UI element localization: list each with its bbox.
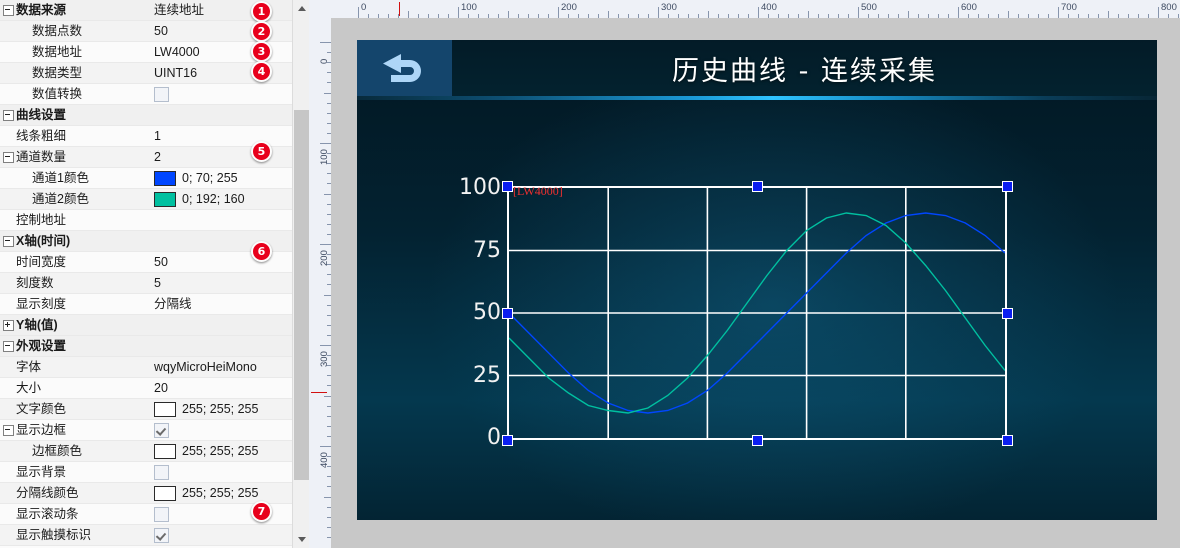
property-label: X轴(时间) <box>16 231 152 251</box>
ruler-tick <box>320 446 331 447</box>
value-text: wqyMicroHeiMono <box>154 357 257 377</box>
ruler-minor-tick <box>1008 11 1009 18</box>
trend-chart-plot[interactable] <box>507 186 1007 440</box>
property-panel-scrollbar[interactable] <box>292 0 310 548</box>
resize-handle[interactable] <box>1002 308 1013 319</box>
property-row[interactable]: 时间宽度50 <box>0 252 292 273</box>
property-label: 数据地址 <box>16 42 152 62</box>
ruler-tick <box>958 7 959 18</box>
color-value-text: 255; 255; 255 <box>182 399 258 419</box>
value-text: 连续地址 <box>154 0 204 20</box>
property-value[interactable]: 分隔线 <box>152 294 292 314</box>
property-label: 大小 <box>16 378 152 398</box>
property-row[interactable]: 显示触摸标识 <box>0 525 292 546</box>
property-value[interactable]: 255; 255; 255 <box>152 399 292 419</box>
y-axis-tick-label: 25 <box>473 365 501 387</box>
collapse-icon[interactable] <box>3 5 14 16</box>
ruler-minor-tick <box>324 497 331 498</box>
ruler-minor-tick <box>324 93 331 94</box>
property-expander[interactable] <box>0 315 16 335</box>
canvas-workspace[interactable]: 历史曲线 - 连续采集 [LW4000] 0255075100 <box>331 18 1180 548</box>
property-row[interactable]: 曲线设置 <box>0 105 292 126</box>
callout-badge: 1 <box>251 1 272 22</box>
ruler-minor-tick <box>408 11 409 18</box>
ruler-label: 100 <box>461 3 477 13</box>
hmi-header-bar: 历史曲线 - 连续采集 <box>357 40 1157 96</box>
ruler-minor-tick <box>324 194 331 195</box>
y-axis-tick-label: 100 <box>459 177 501 199</box>
property-row[interactable]: Y轴(值) <box>0 315 292 336</box>
property-value[interactable] <box>152 465 292 480</box>
callout-badge: 5 <box>251 141 272 162</box>
ruler-tick <box>1158 7 1159 18</box>
ruler-tick <box>320 345 331 346</box>
ruler-minor-tick <box>508 11 509 18</box>
property-label: 显示滚动条 <box>16 504 152 524</box>
ruler-tick <box>458 7 459 18</box>
scroll-up-button[interactable] <box>293 0 310 17</box>
ruler-tick <box>658 7 659 18</box>
value-text: 2 <box>154 147 161 167</box>
ruler-tick <box>1058 7 1059 18</box>
resize-handle[interactable] <box>752 181 763 192</box>
ruler-label: 0 <box>361 3 366 13</box>
y-axis-tick-label: 75 <box>473 240 501 262</box>
property-value[interactable] <box>152 528 292 543</box>
property-row[interactable]: 显示滚动条 <box>0 504 292 525</box>
chevron-down-icon <box>298 537 306 542</box>
property-label: 数据类型 <box>16 63 152 83</box>
value-text: 1 <box>154 126 161 146</box>
collapse-icon[interactable] <box>3 341 14 352</box>
color-swatch[interactable] <box>154 444 176 459</box>
ruler-minor-tick <box>324 396 331 397</box>
back-arrow-icon <box>377 48 433 88</box>
property-row[interactable]: 线条粗细1 <box>0 126 292 147</box>
callout-badge: 4 <box>251 61 272 82</box>
trend-chart-object[interactable]: [LW4000] 0255075100 <box>507 186 1007 440</box>
property-row[interactable]: 通道1颜色0; 70; 255 <box>0 168 292 189</box>
property-value[interactable]: 5 <box>152 273 292 293</box>
property-row[interactable]: 数据点数50 <box>0 21 292 42</box>
ruler-minor-tick <box>708 11 709 18</box>
trend-chart-svg <box>509 188 1005 438</box>
property-label: Y轴(值) <box>16 315 152 335</box>
property-label: 通道2颜色 <box>16 189 152 209</box>
property-value[interactable]: 255; 255; 255 <box>152 441 292 461</box>
ruler-tick <box>558 7 559 18</box>
property-label: 通道数量 <box>16 147 152 167</box>
ruler-label: 600 <box>961 3 977 13</box>
color-swatch[interactable] <box>154 486 176 501</box>
value-text: 50 <box>154 252 168 272</box>
ruler-label: 500 <box>861 3 877 13</box>
resize-handle[interactable] <box>1002 435 1013 446</box>
address-tag-label: [LW4000] <box>513 184 563 199</box>
ruler-tick <box>320 42 331 43</box>
property-row[interactable]: X轴(时间) <box>0 231 292 252</box>
color-swatch[interactable] <box>154 402 176 417</box>
value-text: 50 <box>154 21 168 41</box>
back-button[interactable] <box>357 40 452 96</box>
property-value[interactable]: 255; 255; 255 <box>152 483 292 503</box>
property-label: 控制地址 <box>16 210 152 230</box>
chevron-up-icon <box>298 6 306 11</box>
ruler-minor-tick <box>908 11 909 18</box>
color-value-text: 0; 192; 160 <box>182 189 245 209</box>
property-value[interactable]: 0; 70; 255 <box>152 168 292 188</box>
ruler-label: 700 <box>1061 3 1077 13</box>
property-label: 边框颜色 <box>16 441 152 461</box>
ruler-minor-tick <box>808 11 809 18</box>
property-expander[interactable] <box>0 336 16 356</box>
editor-window: 1数据来源连续地址2数据点数503数据地址LW40004数据类型UINT16数值… <box>0 0 1180 548</box>
value-text: UINT16 <box>154 63 197 83</box>
property-label: 显示刻度 <box>16 294 152 314</box>
resize-handle[interactable] <box>1002 181 1013 192</box>
property-row[interactable]: 控制地址 <box>0 210 292 231</box>
resize-handle[interactable] <box>502 435 513 446</box>
hmi-screen-title: 历史曲线 - 连续采集 <box>452 40 1157 96</box>
property-expander[interactable] <box>0 231 16 251</box>
ruler-label: 200 <box>561 3 577 13</box>
y-axis-tick-label: 0 <box>487 427 501 449</box>
vertical-ruler: 0100200300400 <box>309 18 332 548</box>
property-row[interactable]: 字体wqyMicroHeiMono <box>0 357 292 378</box>
checkbox[interactable] <box>154 507 169 522</box>
header-accent-line <box>357 96 1157 100</box>
property-value[interactable] <box>152 423 292 438</box>
property-label: 分隔线颜色 <box>16 483 152 503</box>
horizontal-ruler: 0100200300400500600700800 <box>309 0 1180 19</box>
ruler-tick <box>320 244 331 245</box>
checkbox[interactable] <box>154 423 169 438</box>
ruler-label: 400 <box>761 3 777 13</box>
value-text: 5 <box>154 273 161 293</box>
callout-badge: 3 <box>251 41 272 62</box>
property-row[interactable]: 数据来源连续地址 <box>0 0 292 21</box>
property-label: 显示触摸标识 <box>16 525 152 545</box>
collapse-icon[interactable] <box>3 110 14 121</box>
property-label: 数值转换 <box>16 84 152 104</box>
property-value[interactable]: wqyMicroHeiMono <box>152 357 292 377</box>
property-row[interactable]: 大小20 <box>0 378 292 399</box>
ruler-tick <box>858 7 859 18</box>
property-row[interactable]: 刻度数5 <box>0 273 292 294</box>
ruler-minor-tick <box>1108 11 1109 18</box>
property-row[interactable]: 数据类型UINT16 <box>0 63 292 84</box>
property-label: 字体 <box>16 357 152 377</box>
property-label: 刻度数 <box>16 273 152 293</box>
property-row[interactable]: 显示刻度分隔线 <box>0 294 292 315</box>
expand-icon[interactable] <box>3 320 14 331</box>
color-swatch[interactable] <box>154 192 176 207</box>
color-value-text: 0; 70; 255 <box>182 168 238 188</box>
property-row[interactable]: 数值转换 <box>0 84 292 105</box>
ruler-minor-tick <box>608 11 609 18</box>
y-axis-tick-label: 50 <box>473 302 501 324</box>
color-value-text: 255; 255; 255 <box>182 441 258 461</box>
ruler-tick <box>320 143 331 144</box>
ruler-label: 300 <box>661 3 677 13</box>
property-expander[interactable] <box>0 420 16 440</box>
property-label: 数据来源 <box>16 0 152 20</box>
property-label: 显示边框 <box>16 420 152 440</box>
ruler-tick <box>758 7 759 18</box>
property-value[interactable]: 0; 192; 160 <box>152 189 292 209</box>
collapse-icon[interactable] <box>3 425 14 436</box>
property-expander[interactable] <box>0 147 16 167</box>
checkbox[interactable] <box>154 87 169 102</box>
collapse-icon[interactable] <box>3 152 14 163</box>
property-value[interactable]: 1 <box>152 126 292 146</box>
property-row[interactable]: 通道2颜色0; 192; 160 <box>0 189 292 210</box>
property-row[interactable]: 数据地址LW4000 <box>0 42 292 63</box>
resize-handle[interactable] <box>752 435 763 446</box>
ruler-label: 800 <box>1161 3 1177 13</box>
callout-badge: 7 <box>251 501 272 522</box>
scroll-down-button[interactable] <box>293 531 310 548</box>
scrollbar-thumb[interactable] <box>294 110 309 480</box>
property-row[interactable]: 显示边框 <box>0 420 292 441</box>
checkbox[interactable] <box>154 465 169 480</box>
property-label: 通道1颜色 <box>16 168 152 188</box>
value-text: 20 <box>154 378 168 398</box>
callout-badge: 2 <box>251 21 272 42</box>
property-value[interactable]: 20 <box>152 378 292 398</box>
property-row[interactable]: 外观设置 <box>0 336 292 357</box>
collapse-icon[interactable] <box>3 236 14 247</box>
property-label: 时间宽度 <box>16 252 152 272</box>
property-label: 显示背景 <box>16 462 152 482</box>
value-text: LW4000 <box>154 42 200 62</box>
ruler-position-marker <box>311 392 327 393</box>
hmi-screen[interactable]: 历史曲线 - 连续采集 [LW4000] 0255075100 <box>357 40 1157 520</box>
property-label: 线条粗细 <box>16 126 152 146</box>
value-text: 分隔线 <box>154 294 192 314</box>
ruler-minor-tick <box>324 295 331 296</box>
property-label: 外观设置 <box>16 336 152 356</box>
property-row[interactable]: 显示背景 <box>0 462 292 483</box>
callout-badge: 6 <box>251 241 272 262</box>
property-label: 曲线设置 <box>16 105 152 125</box>
property-value[interactable] <box>152 87 292 102</box>
property-panel: 1数据来源连续地址2数据点数503数据地址LW40004数据类型UINT16数值… <box>0 0 292 548</box>
property-row[interactable]: 通道数量2 <box>0 147 292 168</box>
property-expander[interactable] <box>0 0 16 20</box>
resize-handle[interactable] <box>502 308 513 319</box>
checkbox[interactable] <box>154 528 169 543</box>
property-label: 数据点数 <box>16 21 152 41</box>
property-row[interactable]: 分隔线颜色255; 255; 255 <box>0 483 292 504</box>
property-expander[interactable] <box>0 105 16 125</box>
resize-handle[interactable] <box>502 181 513 192</box>
ruler-tick <box>358 7 359 18</box>
ruler-position-marker <box>399 2 400 16</box>
property-row[interactable]: 边框颜色255; 255; 255 <box>0 441 292 462</box>
color-value-text: 255; 255; 255 <box>182 483 258 503</box>
property-label: 文字颜色 <box>16 399 152 419</box>
property-row[interactable]: 文字颜色255; 255; 255 <box>0 399 292 420</box>
color-swatch[interactable] <box>154 171 176 186</box>
